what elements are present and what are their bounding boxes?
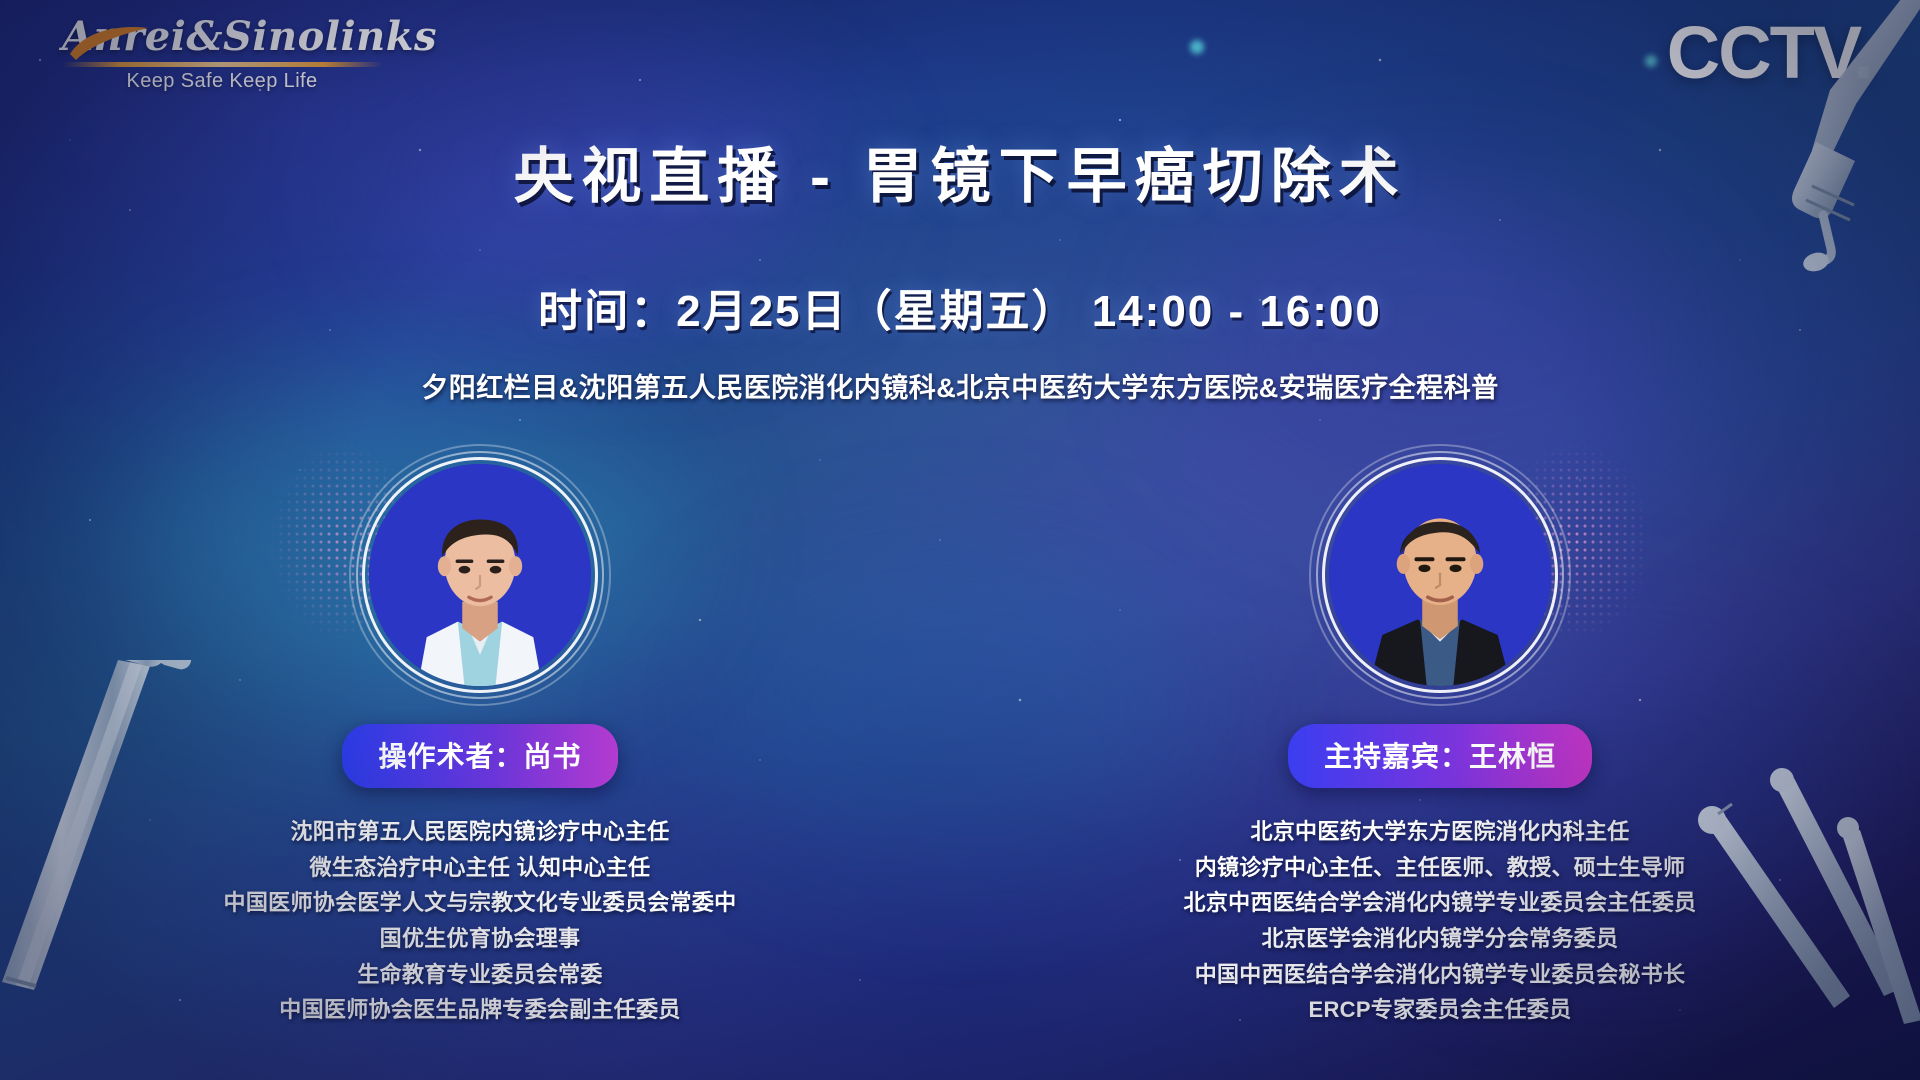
presenter-photo [369, 464, 591, 686]
livestream-poster: Anrei&Sinolinks Keep Safe Keep Life CCTV… [0, 0, 1920, 1080]
brand-tagline: Keep Safe Keep Life [62, 70, 382, 93]
cctv-logo: CCTV. [1667, 16, 1872, 90]
presenter-credentials: 沈阳市第五人民医院内镜诊疗中心主任 微生态治疗中心主任 认知中心主任 中国医师协… [100, 814, 860, 1028]
credential-line: 沈阳市第五人民医院内镜诊疗中心主任 [100, 814, 860, 850]
page-title: 央视直播 - 胃镜下早癌切除术 [0, 128, 1920, 215]
presenter-credentials: 北京中医药大学东方医院消化内科主任 内镜诊疗中心主任、主任医师、教授、硕士生导师… [1060, 814, 1820, 1028]
presenter-card: 主持嘉宾：王林恒 北京中医药大学东方医院消化内科主任 内镜诊疗中心主任、主任医师… [1060, 460, 1820, 1028]
star-glow [1190, 40, 1204, 54]
organizers-line: 夕阳红栏目&沈阳第五人民医院消化内镜科&北京中医药大学东方医院&安瑞医疗全程科普 [0, 366, 1920, 405]
presenter-role-badge: 主持嘉宾：王林恒 [1288, 724, 1592, 788]
brand-logo: Anrei&Sinolinks Keep Safe Keep Life [62, 16, 382, 93]
credential-line: 国优生优育协会理事 [100, 921, 860, 957]
credential-line: 微生态治疗中心主任 认知中心主任 [100, 850, 860, 886]
brand-divider [62, 62, 382, 67]
presenters-section: 操作术者：尚书 沈阳市第五人民医院内镜诊疗中心主任 微生态治疗中心主任 认知中心… [0, 460, 1920, 1020]
credential-line: 内镜诊疗中心主任、主任医师、教授、硕士生导师 [1060, 850, 1820, 886]
event-time: 时间：2月25日（星期五） 14:00 - 16:00 [0, 275, 1920, 339]
star-glow [1645, 55, 1657, 67]
credential-line: 北京医学会消化内镜学分会常务委员 [1060, 921, 1820, 957]
credential-line: 北京中西医结合学会消化内镜学专业委员会主任委员 [1060, 885, 1820, 921]
credential-line: 北京中医药大学东方医院消化内科主任 [1060, 814, 1820, 850]
credential-line: 中国医师协会医学人文与宗教文化专业委员会常委中 [100, 885, 860, 921]
presenter-role-badge: 操作术者：尚书 [342, 724, 617, 788]
presenter-photo [1329, 464, 1551, 686]
credential-line: ERCP专家委员会主任委员 [1060, 992, 1820, 1028]
avatar [1325, 460, 1555, 690]
credential-line: 中国医师协会医生品牌专委会副主任委员 [100, 992, 860, 1028]
credential-line: 中国中西医结合学会消化内镜学专业委员会秘书长 [1060, 957, 1820, 993]
avatar [365, 460, 595, 690]
presenter-card: 操作术者：尚书 沈阳市第五人民医院内镜诊疗中心主任 微生态治疗中心主任 认知中心… [100, 460, 860, 1028]
credential-line: 生命教育专业委员会常委 [100, 957, 860, 993]
brand-wordmark: Anrei&Sinolinks [62, 16, 382, 58]
